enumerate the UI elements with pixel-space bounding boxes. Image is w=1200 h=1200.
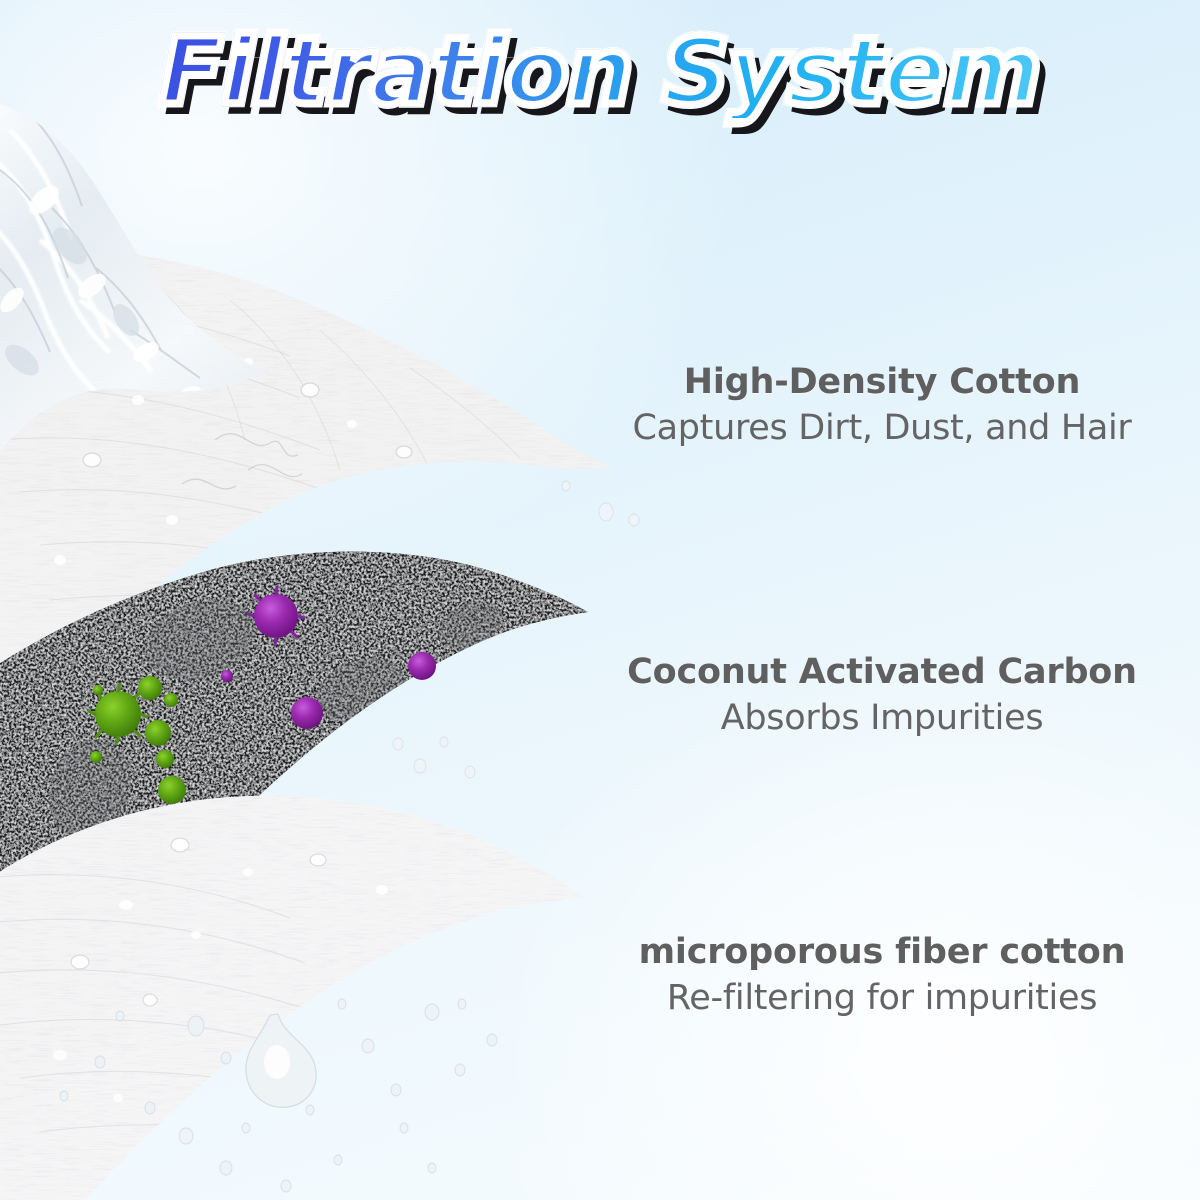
feature-block-microporous-fiber-cotton: microporous fiber cotton Re-filtering fo… bbox=[572, 932, 1192, 1019]
contaminant-particles bbox=[89, 587, 436, 804]
carbon-layer-shape bbox=[0, 520, 640, 1080]
purple-contaminant-group bbox=[221, 587, 436, 729]
feature-title: microporous fiber cotton bbox=[572, 932, 1192, 973]
poster-title-wrap: Filtration System Filtration System Filt… bbox=[0, 26, 1200, 118]
cotton-layer-shape bbox=[0, 200, 700, 840]
feature-block-coconut-activated-carbon: Coconut Activated Carbon Absorbs Impurit… bbox=[572, 652, 1192, 739]
feature-title: High-Density Cotton bbox=[572, 362, 1192, 403]
green-contaminant-group bbox=[89, 676, 186, 804]
water-splash bbox=[0, 80, 340, 520]
feature-subtitle: Captures Dirt, Dust, and Hair bbox=[572, 407, 1192, 449]
page-title: Filtration System bbox=[160, 26, 1040, 118]
fiber-layer-shape bbox=[0, 760, 640, 1200]
feature-title: Coconut Activated Carbon bbox=[572, 652, 1192, 693]
feature-subtitle: Absorbs Impurities bbox=[572, 697, 1192, 739]
filter-layers-artwork bbox=[0, 0, 1200, 1200]
feature-subtitle: Re-filtering for impurities bbox=[572, 977, 1192, 1019]
background-wash-bottom-right bbox=[500, 660, 1200, 1200]
filtration-system-poster: Filtration System Filtration System Filt… bbox=[0, 0, 1200, 1200]
title-stack: Filtration System Filtration System Filt… bbox=[160, 26, 1040, 118]
water-droplets bbox=[60, 481, 639, 1192]
feature-block-high-density-cotton: High-Density Cotton Captures Dirt, Dust,… bbox=[572, 362, 1192, 449]
